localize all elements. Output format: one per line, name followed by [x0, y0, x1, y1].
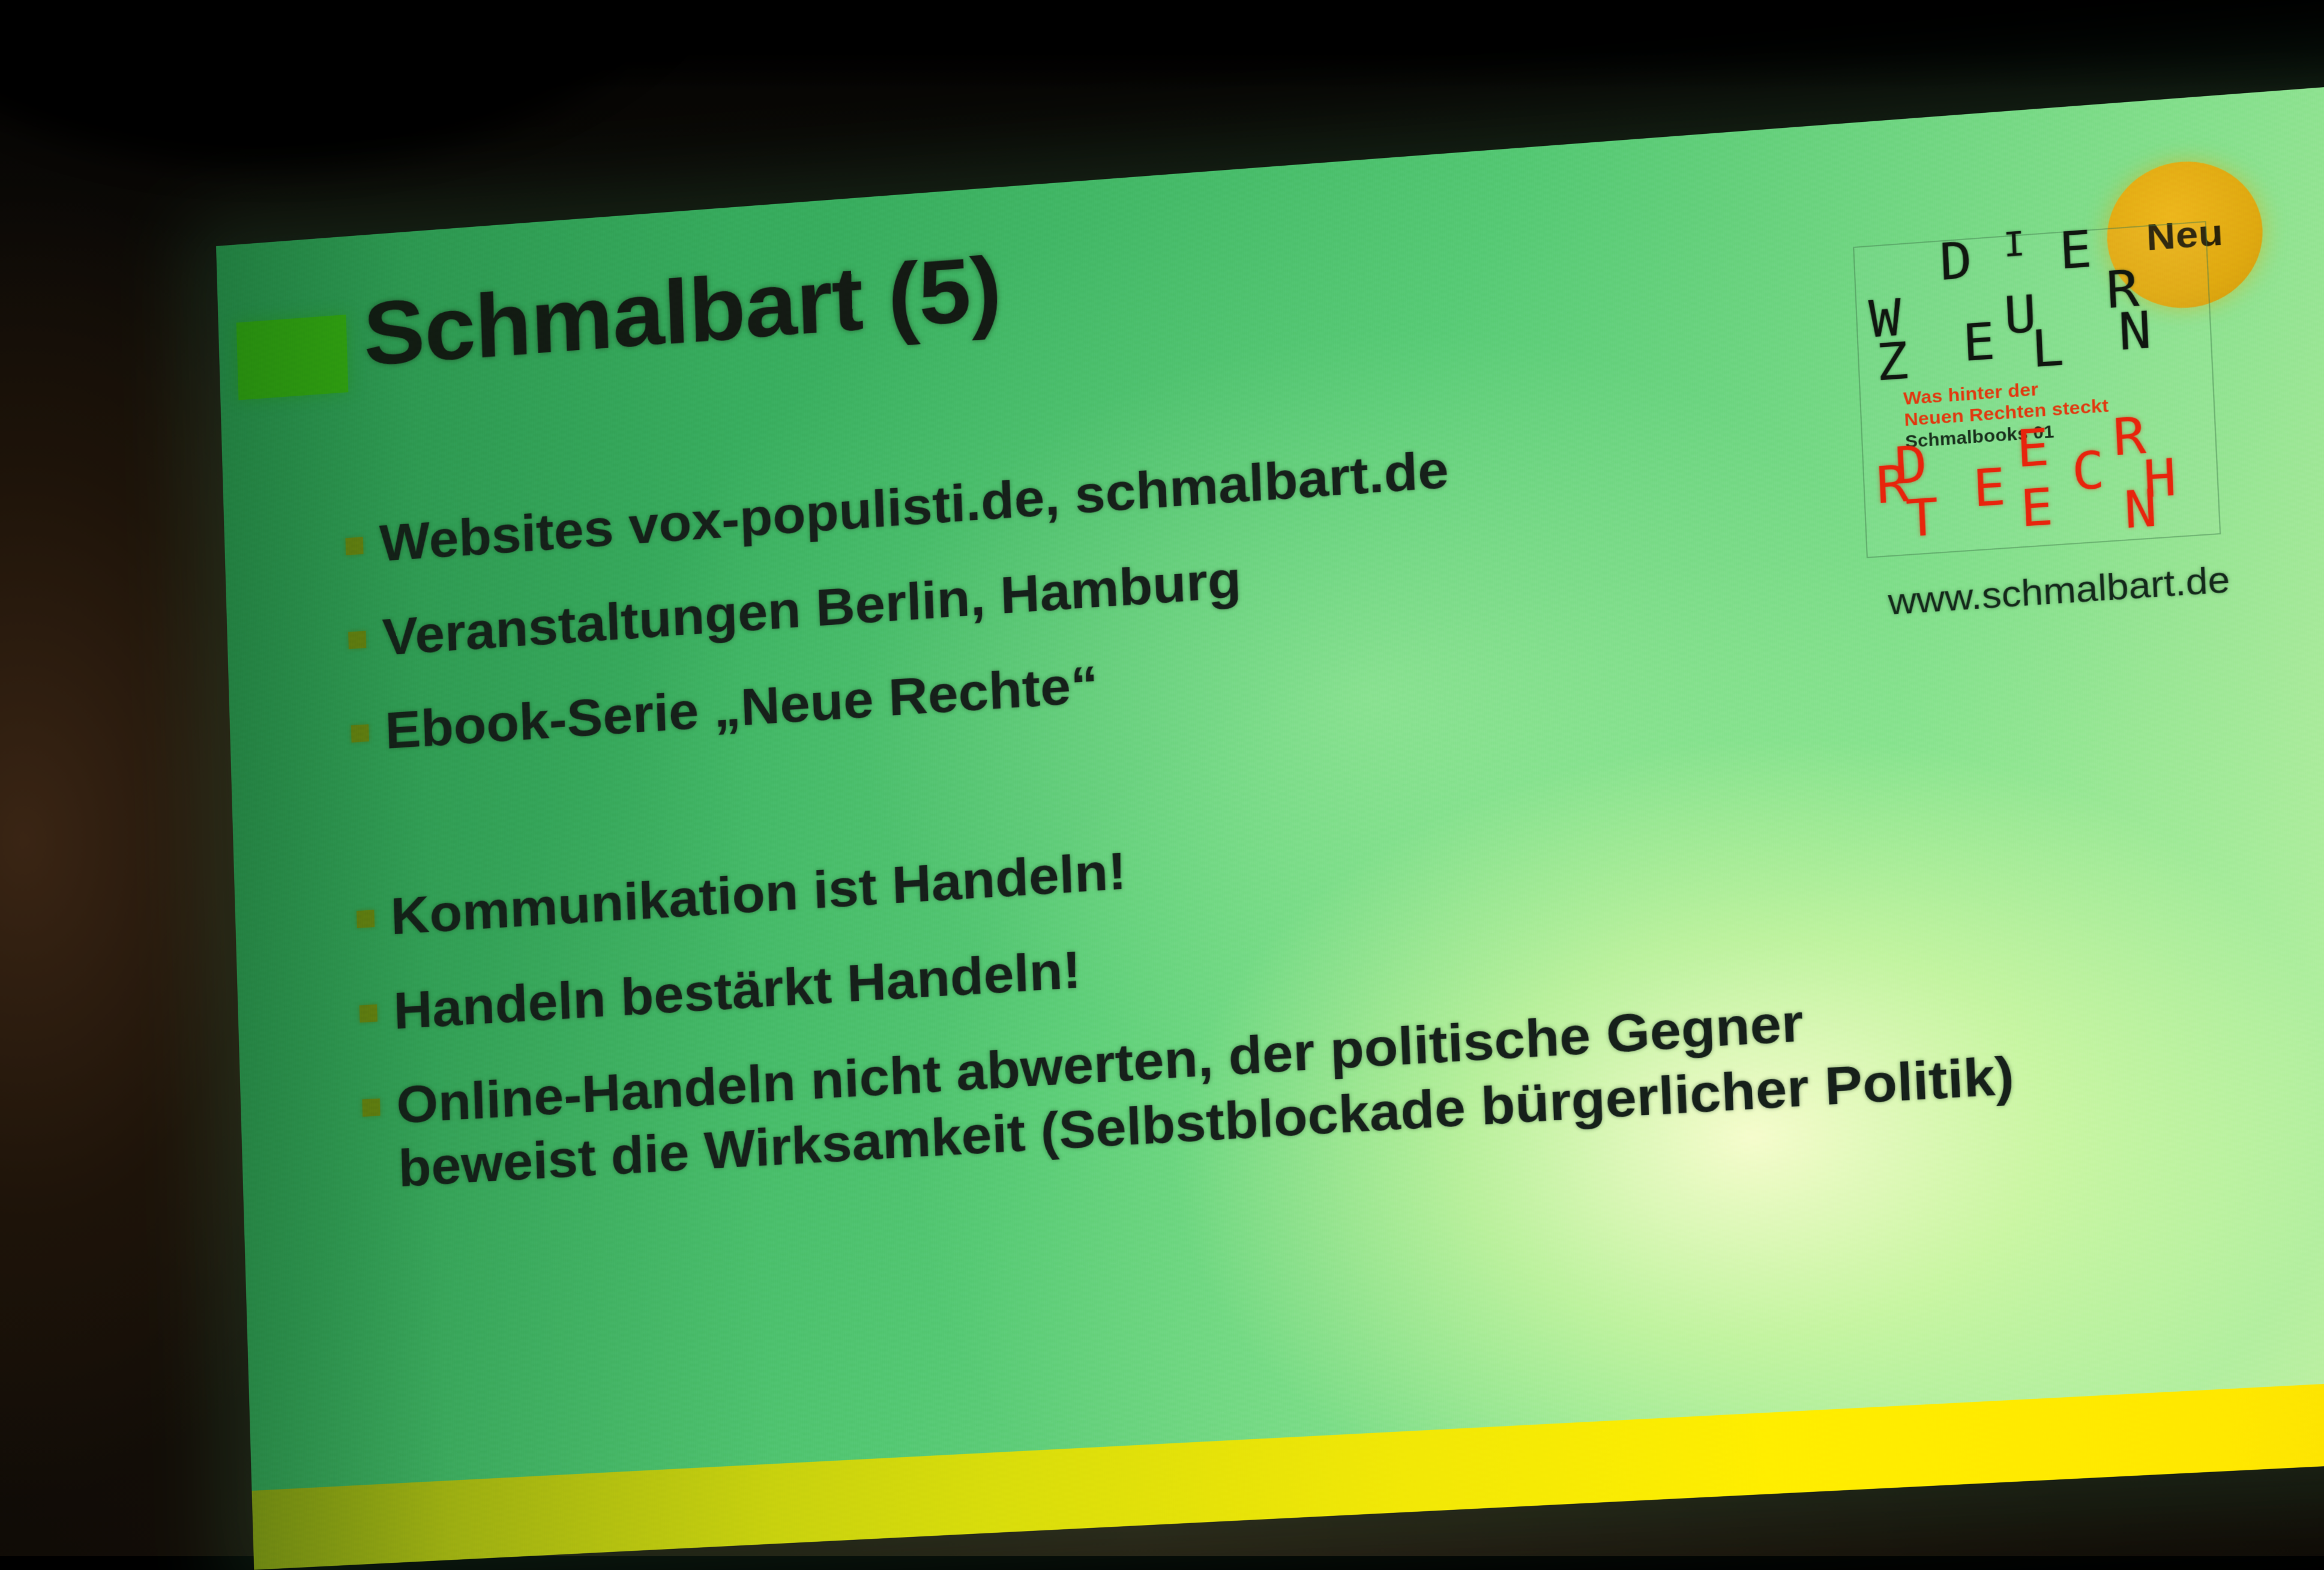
list-item-label: Ebook-Serie „Neue Rechte“ [384, 652, 1099, 762]
bullet-group-1: Websites vox-populisti.de, schmalbart.de… [345, 406, 1894, 764]
cover-title-red-letters: D E R R E C H T E N [1854, 222, 2220, 557]
page-title: Schmalbart (5) [362, 243, 1002, 380]
bullet-square-icon [351, 724, 369, 743]
bullet-square-icon [357, 910, 375, 928]
cover-red-letter-c: C [2071, 444, 2106, 498]
bullet-square-icon [360, 1004, 378, 1022]
cover-red-letter-r: R [2112, 410, 2147, 463]
cover-url-label: www.schmalbart.de [1877, 557, 2241, 624]
bullet-group-2: Kommunikation ist Handeln! Handeln bestä… [356, 780, 2062, 1201]
projected-slide: Schmalbart (5) Websites vox-populisti.de… [216, 78, 2324, 1569]
slide-footer-band [252, 1374, 2324, 1569]
cover-red-letter-e: E [2015, 421, 2050, 475]
slide-content: Schmalbart (5) Websites vox-populisti.de… [216, 78, 2324, 1569]
list-item-label: Handeln bestärkt Handeln! [393, 937, 1082, 1042]
bullet-square-icon [362, 1099, 380, 1117]
book-cover-image: D I E W U R Z E L N Was hinter der Neuen… [1853, 221, 2221, 558]
cover-red-letter-n: N [2123, 482, 2158, 536]
cover-red-letter-e2: E [1972, 461, 2006, 515]
slide-title-row: Schmalbart (5) [235, 232, 1003, 400]
bullet-square-icon [345, 537, 363, 555]
projection-screen-area: Schmalbart (5) Websites vox-populisti.de… [0, 0, 2324, 1556]
cover-red-letter-r2: R [1875, 458, 1910, 512]
title-accent-square [236, 315, 349, 400]
cover-red-letter-t: T [1905, 491, 1940, 545]
bullet-square-icon [348, 630, 366, 649]
list-item-label: Kommunikation ist Handeln! [390, 839, 1127, 948]
cover-red-letter-e3: E [2019, 481, 2054, 534]
